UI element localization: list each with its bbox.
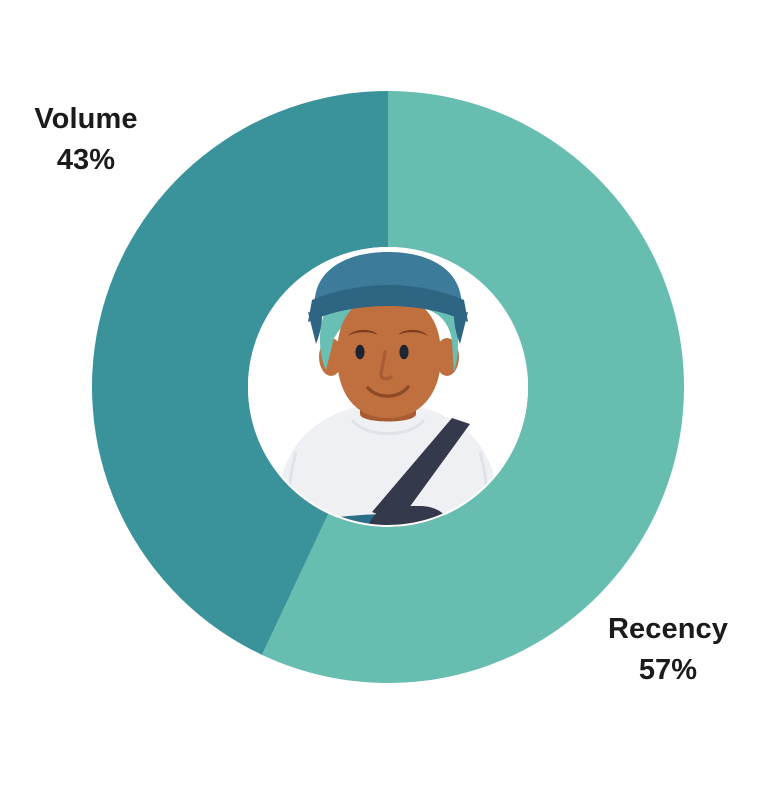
- donut-chart-canvas: Volume 43% Recency 57%: [0, 0, 768, 788]
- slice-label-volume: Volume 43%: [16, 100, 156, 180]
- slice-label-recency-name: Recency: [588, 610, 748, 648]
- slice-label-volume-name: Volume: [16, 100, 156, 138]
- slice-label-recency-value: 57%: [588, 651, 748, 689]
- avatar-face: [337, 296, 441, 418]
- slice-label-volume-value: 43%: [16, 141, 156, 179]
- slice-label-recency: Recency 57%: [588, 610, 748, 690]
